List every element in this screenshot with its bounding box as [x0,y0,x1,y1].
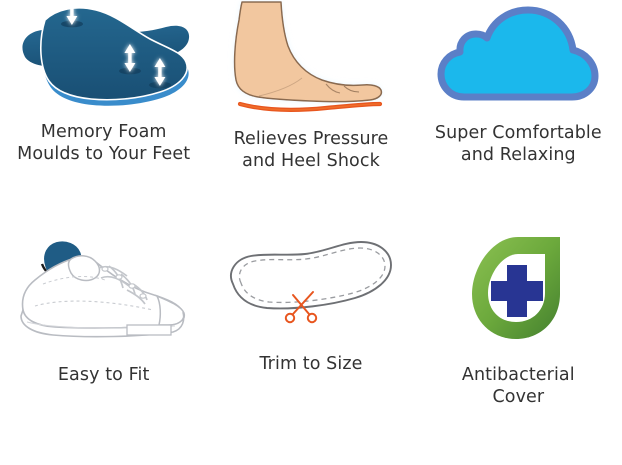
sneaker-with-insole-icon [9,232,199,342]
cloud-shape [441,10,595,97]
feature-memory-foam: Memory Foam Moulds to Your Feet [0,0,207,232]
sole-heel-block [127,325,171,335]
feature-antibacterial-cover: Antibacterial Cover [415,232,622,465]
feature-caption: Super Comfortable and Relaxing [435,122,602,167]
feature-caption: Antibacterial Cover [462,364,575,409]
memory-foam-insoles-icon [16,0,191,111]
shoe-toe-cap [157,296,184,325]
cloud-icon [437,0,599,110]
insole-outline-scissors-icon [221,232,401,327]
feature-caption: Easy to Fit [58,364,150,386]
feature-caption: Memory Foam Moulds to Your Feet [17,121,190,166]
feature-caption: Relieves Pressure and Heel Shock [234,128,389,173]
foot-side-profile-icon [226,0,396,120]
feature-easy-to-fit: Easy to Fit [0,232,207,465]
feature-caption: Trim to Size [259,353,362,375]
feature-relieves-pressure: Relieves Pressure and Heel Shock [207,0,414,232]
foot-shape [235,2,382,102]
green-shield-medical-cross-icon [459,232,577,350]
features-infographic: Memory Foam Moulds to Your Feet [0,0,622,465]
feature-super-comfortable: Super Comfortable and Relaxing [415,0,622,232]
insole-outline [231,242,391,308]
feature-trim-to-size: Trim to Size [207,232,414,465]
